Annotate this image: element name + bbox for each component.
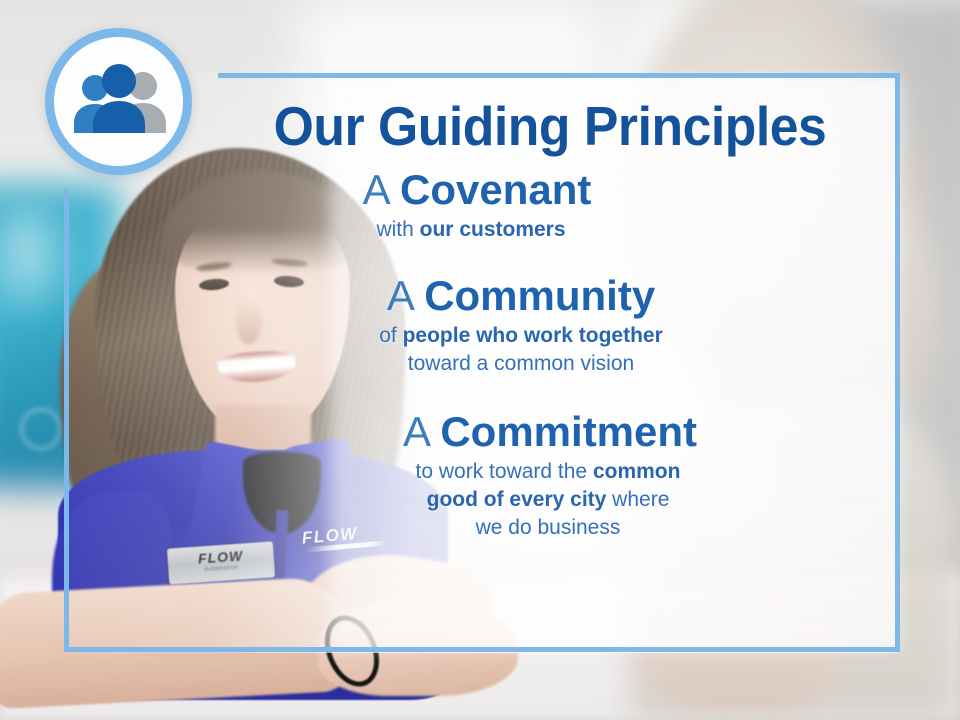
subtext-run-bold: common: [593, 460, 681, 483]
people-group-icon: [67, 62, 171, 142]
principle-subtext: to work toward the common good of every …: [200, 458, 900, 542]
subtext-run: we do business: [476, 516, 621, 539]
principle-subtext: of people who work together toward a com…: [200, 322, 842, 378]
guiding-principles-banner: FLOW Automotive FLOW: [0, 0, 960, 720]
principle-heading: A Covenant: [200, 168, 754, 212]
subtext-run: to work toward the: [416, 460, 593, 483]
principle-subtext-line: toward a common vision: [200, 350, 842, 378]
people-group-icon-badge: [45, 28, 192, 175]
principle-heading: A Community: [200, 274, 842, 318]
principle-subtext: with our customers: [200, 216, 754, 244]
subtext-run-bold: people who work together: [403, 324, 663, 347]
principle-keyword: Commitment: [440, 408, 697, 455]
principle-keyword: Community: [424, 272, 655, 319]
subtext-run: with: [376, 218, 419, 241]
principle-subtext-line: we do business: [200, 514, 896, 542]
subtext-run: where: [606, 488, 669, 511]
subtext-run-bold: our customers: [420, 218, 566, 241]
principle-subtext-line: with our customers: [200, 216, 742, 244]
principle-subtext-line: of people who work together: [200, 322, 842, 350]
principle-community: A Community of people who work together …: [200, 274, 900, 378]
subtext-run-bold: good of every city: [427, 488, 607, 511]
subtext-run: of: [379, 324, 402, 347]
principle-subtext-line: good of every city where: [200, 486, 896, 514]
principle-heading: A Commitment: [200, 410, 900, 454]
principle-article: A: [363, 166, 400, 213]
principle-subtext-line: to work toward the common: [200, 458, 896, 486]
principle-commitment: A Commitment to work toward the common g…: [200, 410, 900, 542]
page-title: Our Guiding Principles: [221, 78, 879, 154]
text-content: Our Guiding Principles A Covenant with o…: [200, 78, 900, 644]
principle-article: A: [387, 272, 424, 319]
subtext-run: toward a common vision: [408, 352, 634, 375]
principle-keyword: Covenant: [400, 166, 591, 213]
principle-article: A: [403, 408, 440, 455]
principle-covenant: A Covenant with our customers: [200, 168, 900, 244]
